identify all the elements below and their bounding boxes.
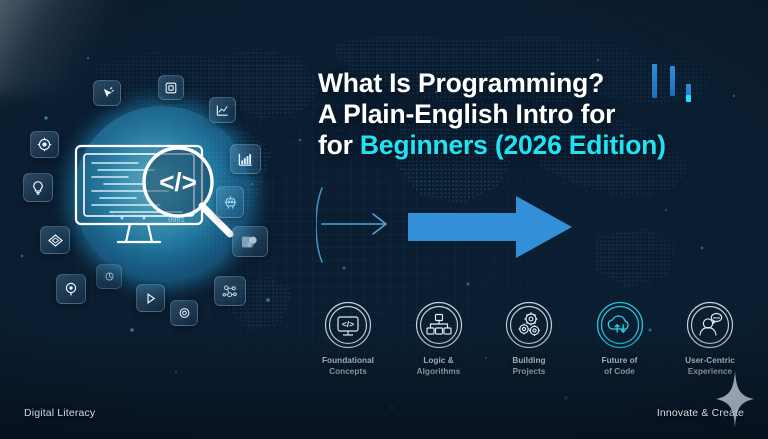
svg-text:</>: </> [159,167,197,197]
svg-text:</>: </> [342,319,354,329]
feature-label: FoundationalConcepts [322,356,374,377]
media-icon [232,226,268,257]
feature-row: </> FoundationalConcepts Lo [306,300,752,377]
line-chart-icon [209,97,236,123]
hero-illustration: 0081 </> [18,78,286,310]
headline-line-3-plain: for [318,130,360,160]
accent-bars [650,62,704,114]
solid-arrow-right [408,196,572,258]
sparkle-icon [714,371,756,427]
headline-line-3-accent: Beginners (2026 Edition) [360,130,666,160]
feature-label: Future ofof Code [602,356,638,377]
robot-icon [216,186,244,218]
bar-chart-icon [230,144,261,174]
slide-canvas: 0081 </> [0,0,768,439]
feature-item[interactable]: BuildingProjects [487,300,571,377]
feature-item[interactable]: end User-CentricExperience [668,300,752,377]
cursor-click-icon [93,80,121,106]
headline-line-3: for Beginners (2026 Edition) [318,130,738,161]
thin-arrow-right [316,186,398,266]
accent-bar-2 [670,66,675,96]
feature-item[interactable]: Future ofof Code [578,300,662,377]
diamond-icon [40,226,70,254]
gears-icon [504,300,554,350]
play-icon [136,284,165,312]
accent-bar-1 [652,64,657,98]
footer-left-text: Digital Literacy [24,407,95,419]
feature-label: Logic &Algorithms [417,356,461,377]
user-speech-icon: end [685,300,735,350]
camera-icon [158,75,184,100]
hierarchy-icon [414,300,464,350]
pin-icon [96,264,122,289]
svg-text:end: end [713,316,719,320]
feature-label: BuildingProjects [512,356,545,377]
location-pin-icon [56,274,86,304]
accent-bar-3-tip [686,95,691,102]
feature-item[interactable]: Logic &Algorithms [397,300,481,377]
code-monitor-icon: </> [323,300,373,350]
cloud-sync-icon [595,300,645,350]
aperture-icon [170,300,198,326]
network-nodes-icon [214,276,246,306]
feature-item[interactable]: </> FoundationalConcepts [306,300,390,377]
lightbulb-icon [23,173,53,202]
target-icon [30,131,59,158]
svg-text:0081: 0081 [168,217,185,225]
